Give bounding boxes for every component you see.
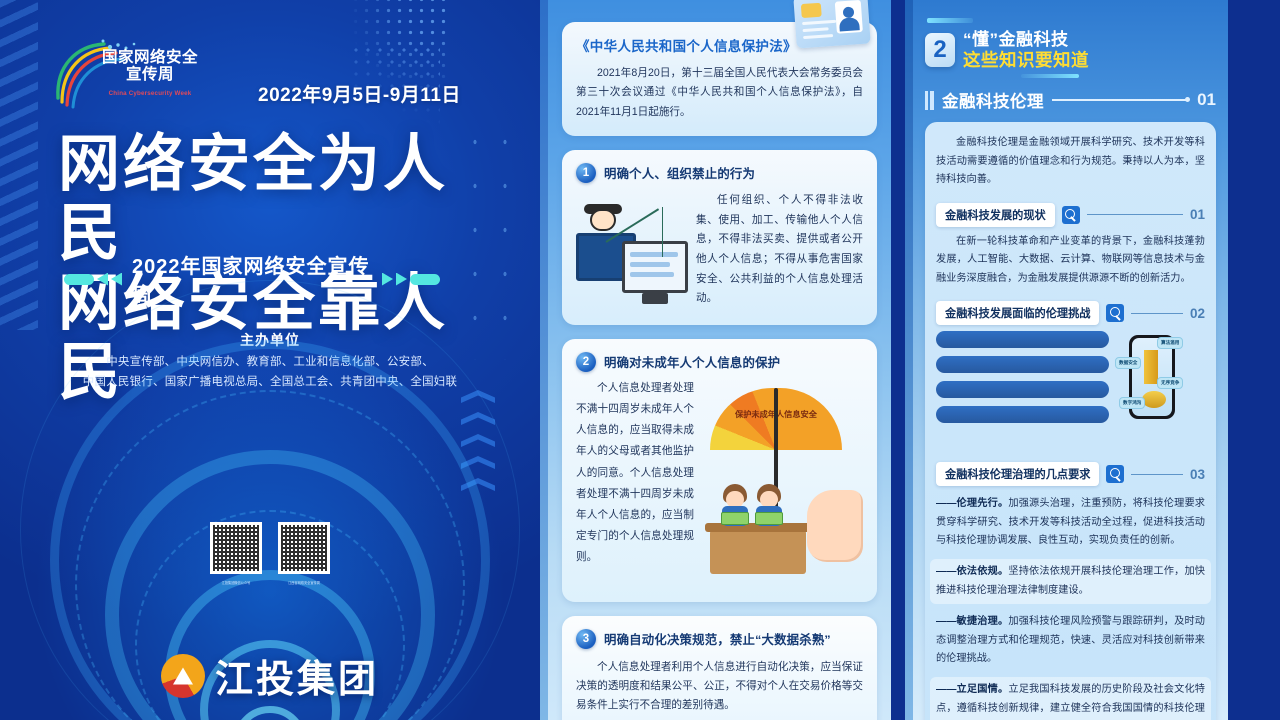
section-name-row: 金融科技伦理 01 <box>925 88 1216 112</box>
law-card: 《中华人民共和国个人信息保护法》 2021年8月20日，第十三届全国人民代表大会… <box>562 22 877 136</box>
divider-line <box>1087 214 1183 215</box>
subsection-1-body: 在新一轮科技革命和产业变革的背景下，金融科技蓬勃发展，人工智能、大数据、云计算、… <box>936 233 1205 289</box>
item-title: 明确个人、组织禁止的行为 <box>604 164 755 182</box>
subsection-1-number: 01 <box>1190 207 1205 222</box>
gold-coin-icon <box>1142 391 1166 408</box>
requirement-item: ——敏捷治理。加强科技伦理风险预警与跟踪研判，及时动态调整治理方式和伦理规范，快… <box>936 613 1205 668</box>
right-arrow-decoration <box>382 273 440 286</box>
section-number-badge: 2 <box>925 33 955 67</box>
item-number-badge: 2 <box>576 352 596 372</box>
id-card-icon <box>793 0 870 49</box>
panel2-right-edge <box>891 0 905 720</box>
brand-name: 江投集团 <box>215 648 379 703</box>
requirement-lead: ——敏捷治理。 <box>936 616 1008 627</box>
tag-unfair-competition: 无序竞争 <box>1157 377 1183 389</box>
law-item-2: 2 明确对未成年人个人信息的保护 个人信息处理者处理不满十四周岁未成年人个人信息… <box>562 339 877 602</box>
tag-digital-divide: 数字鸿沟 <box>1119 397 1145 409</box>
qr-caption-right: 江西省网络安全宣传周 <box>278 580 330 585</box>
search-icon[interactable] <box>1106 465 1124 483</box>
redacted-bar <box>936 406 1109 423</box>
qr-code-group: 江投集团微信公众号 江西省网络安全宣传周 <box>210 522 330 574</box>
fisherman-icon <box>582 209 626 249</box>
children-umbrella-illustration: 保护未成年人信息安全 <box>704 378 863 588</box>
redacted-bars <box>936 331 1109 449</box>
divider-line <box>1131 474 1183 475</box>
requirement-item: ——伦理先行。加强源头治理，注重预防，将科技伦理要求贯穿科学研究、技术开发等科技… <box>936 495 1205 550</box>
search-icon[interactable] <box>1062 206 1080 224</box>
subsection-3-label: 金融科技伦理治理的几点要求 <box>936 462 1099 486</box>
subsection-2-number: 02 <box>1190 306 1205 321</box>
headline-line-1: 网络安全为人民 <box>58 130 488 269</box>
cybersecurity-week-logo: 国家网络安全 宣传周 China Cybersecurity Week <box>48 36 200 112</box>
tag-algorithm-abuse: 算法滥用 <box>1157 337 1183 349</box>
hand-icon <box>807 490 863 562</box>
poster-stage: 国家网络安全 宣传周 China Cybersecurity Week 2022… <box>0 0 1280 720</box>
fintech-content-card: 金融科技伦理是金融领域开展科学研究、技术开发等科技活动需要遵循的价值理念和行为规… <box>925 122 1216 720</box>
section-number: 01 <box>1197 90 1216 110</box>
section-title-line-1: “懂”金融科技 <box>963 30 1089 50</box>
diagonal-stripes-decoration <box>0 0 38 330</box>
tick-decoration-top <box>927 18 973 23</box>
divider-line <box>1131 313 1183 314</box>
company-brand: 江投集团 <box>161 648 379 703</box>
law-item-1: 1 明确个人、组织禁止的行为 <box>562 150 877 325</box>
tag-data-security: 数据安全 <box>1115 357 1141 369</box>
panel2-left-edge <box>540 0 548 720</box>
tick-decoration-bottom <box>1021 74 1079 78</box>
subsection-3-header: 金融科技伦理治理的几点要求 03 <box>936 462 1205 486</box>
child-icon-left <box>720 484 750 530</box>
subsection-1-header: 金融科技发展的现状 01 <box>936 203 1205 227</box>
panel-personal-info-law: 《中华人民共和国个人信息保护法》 2021年8月20日，第十三届全国人民代表大会… <box>540 0 905 720</box>
item-title: 明确对未成年人个人信息的保护 <box>604 353 780 371</box>
redacted-bar <box>936 331 1109 348</box>
subsection-1-label: 金融科技发展的现状 <box>936 203 1055 227</box>
item-2-body: 个人信息处理者处理不满十四周岁未成年人个人信息的，应当取得未成年人的父母或者其他… <box>576 378 694 588</box>
phone-in-hand-illustration: 算法滥用 数据安全 无序竞争 数字鸿沟 <box>1117 331 1205 449</box>
desk-icon <box>710 530 806 574</box>
requirement-lead: ——立足国情。 <box>936 684 1008 695</box>
qr-code-event[interactable] <box>278 522 330 574</box>
left-arrow-decoration <box>64 273 122 286</box>
qr-caption-left: 江投集团微信公众号 <box>210 580 262 585</box>
fishing-line-icon <box>662 207 663 257</box>
panel-fintech-ethics: 2 “懂”金融科技 这些知识要知道 金融科技伦理 01 金融科技伦理是金融领域开… <box>905 0 1280 720</box>
monitor-light-icon <box>622 241 688 293</box>
law-body: 2021年8月20日，第十三届全国人民代表大会常务委员会第三十次会议通过《中华人… <box>576 64 863 122</box>
subsection-2-label: 金融科技发展面临的伦理挑战 <box>936 301 1099 325</box>
subsection-2-header: 金融科技发展面临的伦理挑战 02 <box>936 301 1205 325</box>
requirement-lead: ——伦理先行。 <box>936 498 1008 509</box>
item-number-badge: 1 <box>576 163 596 183</box>
qr-code-wechat[interactable] <box>210 522 262 574</box>
panel3-right-edge <box>1228 0 1280 720</box>
phishing-illustration <box>576 191 688 311</box>
section-header: 2 “懂”金融科技 这些知识要知道 <box>925 30 1216 70</box>
requirement-lead: ——依法依规。 <box>936 566 1008 577</box>
event-date: 2022年9月5日-9月11日 <box>258 80 461 107</box>
divider-line <box>1052 99 1189 101</box>
jiangtou-logo-icon <box>161 654 205 698</box>
intro-paragraph: 金融科技伦理是金融领域开展科学研究、技术开发等科技活动需要遵循的价值理念和行为规… <box>936 134 1205 190</box>
panel-cybersecurity-week: 国家网络安全 宣传周 China Cybersecurity Week 2022… <box>0 0 540 720</box>
panel3-left-edge <box>905 0 913 720</box>
item-3-body: 个人信息处理者利用个人信息进行自动化决策，应当保证决策的透明度和结果公平、公正，… <box>576 658 863 716</box>
bars-icon <box>925 91 934 110</box>
requirement-item: ——立足国情。立足我国科技发展的历史阶段及社会文化特点，遵循科技创新规律，建立健… <box>930 677 1211 720</box>
challenges-block: 算法滥用 数据安全 无序竞争 数字鸿沟 <box>936 331 1205 449</box>
section-title-line-2: 这些知识要知道 <box>963 50 1089 70</box>
item-1-body: 任何组织、个人不得非法收集、使用、加工、传输他人个人信息，不得非法买卖、提供或者… <box>696 191 863 311</box>
child-icon-right <box>754 484 784 530</box>
redacted-bar <box>936 356 1109 373</box>
subsection-3-number: 03 <box>1190 467 1205 482</box>
section-name: 金融科技伦理 <box>942 88 1044 112</box>
logo-title: 国家网络安全 宣传周 <box>94 49 206 84</box>
requirement-item: ——依法依规。坚持依法依规开展科技伦理治理工作，加快推进科技伦理治理法律制度建设… <box>930 559 1211 604</box>
gold-bar-icon <box>1144 350 1158 384</box>
redacted-bar <box>936 381 1109 398</box>
search-icon[interactable] <box>1106 304 1124 322</box>
item-title: 明确自动化决策规范，禁止“大数据杀熟” <box>604 630 831 648</box>
law-item-3: 3 明确自动化决策规范，禁止“大数据杀熟” 个人信息处理者利用个人信息进行自动化… <box>562 616 877 720</box>
item-number-badge: 3 <box>576 629 596 649</box>
logo-english-text: China Cybersecurity Week <box>94 90 206 97</box>
